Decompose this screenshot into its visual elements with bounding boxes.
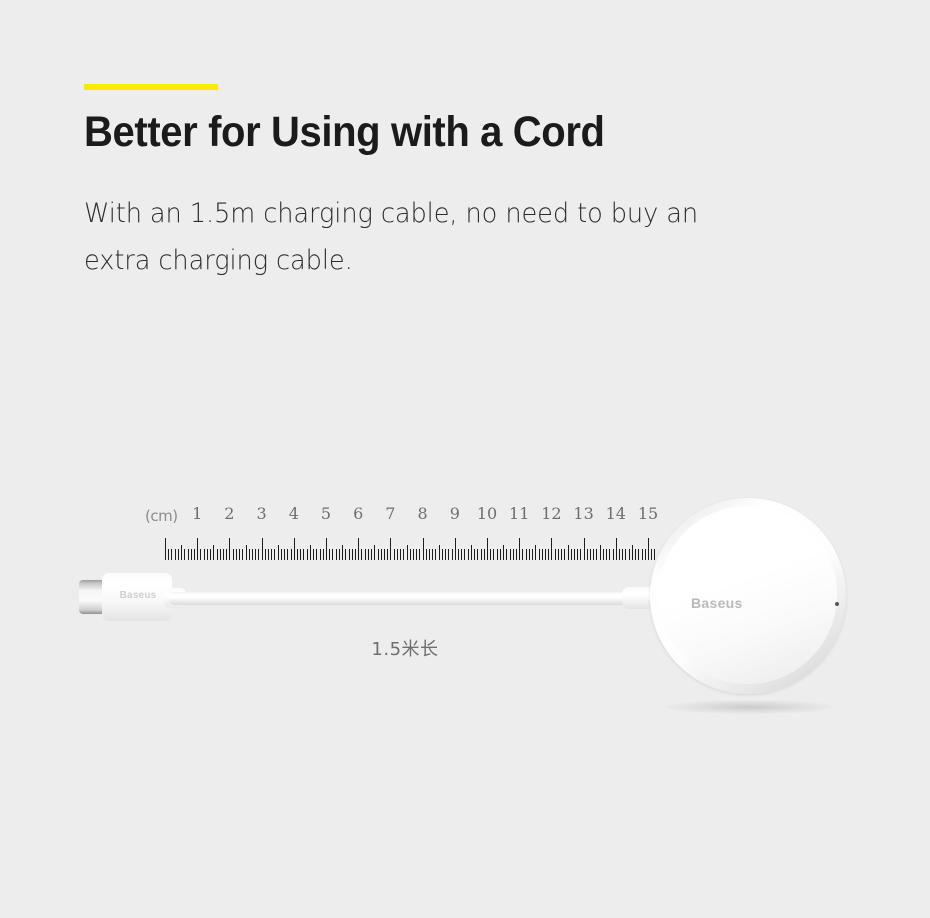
ruler-tick [320,549,321,560]
ruler-tick [625,549,626,560]
ruler-tick [352,549,353,560]
ruler-tick-marks [165,536,655,560]
subcopy-line-2: extra charging cable. [84,237,835,284]
ruler-tick [258,549,259,560]
ruler-tick [184,549,185,560]
ruler-tick [416,549,417,560]
ruler-label-10: 10 [477,506,497,522]
ruler-tick [564,549,565,560]
ruler-tick [587,549,588,560]
ruler-tick [207,549,208,560]
ruler-tick [242,549,243,560]
ruler-tick [204,549,205,560]
ruler-tick [303,549,304,560]
ruler-tick [394,549,395,560]
charging-cable [168,592,638,605]
ruler-tick [332,549,333,560]
ruler-tick [439,545,440,560]
ruler-tick [551,538,552,560]
ruler-tick [542,549,543,560]
ruler-tick [274,549,275,560]
ruler-tick [226,549,227,560]
ruler-label-11: 11 [509,506,529,522]
ruler-label-12: 12 [541,506,561,522]
ruler-tick [168,549,169,560]
ruler-tick [526,549,527,560]
ruler-label-6: 6 [353,506,363,522]
ruler-tick [413,549,414,560]
ruler-tick [268,549,269,560]
ruler-tick [329,549,330,560]
ruler-tick [571,549,572,560]
ruler-tick [397,549,398,560]
ruler-tick [429,549,430,560]
ruler-tick [297,549,298,560]
ruler-tick [365,549,366,560]
ruler-tick [368,549,369,560]
ruler-tick [490,549,491,560]
ruler-tick [622,549,623,560]
ruler-tick [503,545,504,560]
ruler-label-14: 14 [606,506,626,522]
ruler-tick [477,549,478,560]
ruler-tick [294,538,295,560]
ruler-tick [178,549,179,560]
ruler-tick [561,549,562,560]
ruler-tick [619,549,620,560]
ruler-tick [506,549,507,560]
ruler-tick [381,549,382,560]
ruler-tick [545,549,546,560]
ruler-tick [568,545,569,560]
ruler-tick [510,549,511,560]
ruler-tick [175,549,176,560]
ruler-tick [522,549,523,560]
ruler-tick [284,549,285,560]
ruler-tick [287,549,288,560]
ruler-tick [342,545,343,560]
ruler-tick [191,549,192,560]
ruler-tick [384,549,385,560]
ruler-label-8: 8 [418,506,428,522]
ruler-tick [255,549,256,560]
ruler-tick [629,549,630,560]
ruler-tick [584,538,585,560]
ruler-tick [213,545,214,560]
ruler-tick [271,549,272,560]
ruler-tick [513,549,514,560]
wireless-charger: Baseus [645,496,855,716]
ruler-tick [326,538,327,560]
ruler-tick [603,549,604,560]
charger-led-indicator-icon [835,602,839,606]
ruler-tick [532,549,533,560]
ruler-tick [448,549,449,560]
ruler-tick [442,549,443,560]
ruler-tick [387,549,388,560]
ruler-tick [474,549,475,560]
cable-length-caption: 1.5米长 [310,635,500,661]
product-feature-page: Better for Using with a Cord With an 1.5… [0,0,930,918]
ruler-tick [194,549,195,560]
plug-brand-label: Baseus [112,590,164,601]
ruler-tick [210,549,211,560]
ruler-tick [500,549,501,560]
ruler-tick [613,549,614,560]
ruler-tick [539,549,540,560]
ruler-tick [635,549,636,560]
ruler-tick [419,549,420,560]
ruler-tick [590,549,591,560]
ruler-tick [165,538,166,560]
ruler-tick [310,545,311,560]
ruler-tick [323,549,324,560]
ruler-tick [349,549,350,560]
ruler-tick [487,538,488,560]
ruler-tick [574,549,575,560]
ruler-tick [529,549,530,560]
ruler-tick [484,549,485,560]
ruler-tick [220,549,221,560]
ruler-tick [410,549,411,560]
ruler-label-5: 5 [321,506,331,522]
ruler-tick [223,549,224,560]
ruler-tick [265,549,266,560]
ruler-tick [181,545,182,560]
ruler-tick [188,549,189,560]
ruler-tick [516,549,517,560]
ruler-tick [471,545,472,560]
ruler-tick [423,538,424,560]
ruler-tick [390,538,391,560]
ruler-tick [519,538,520,560]
ruler-tick [307,549,308,560]
ruler-tick [493,549,494,560]
ruler-label-9: 9 [450,506,460,522]
ruler-tick [435,549,436,560]
ruler-tick [371,549,372,560]
page-subcopy: With an 1.5m charging cable, no need to … [84,190,835,285]
ruler-tick [609,549,610,560]
ruler-tick [555,549,556,560]
ruler-tick [281,549,282,560]
ruler-tick [252,549,253,560]
charger-top-surface: Baseus [659,506,837,684]
ruler-tick [535,545,536,560]
ruler-tick [197,538,198,560]
ruler-tick [426,549,427,560]
ruler-tick [316,549,317,560]
charger-gloss-highlight [685,516,821,574]
ruler-tick [558,549,559,560]
charger-brand-label: Baseus [691,595,743,611]
yellow-accent-bar [84,84,218,90]
ruler-label-3: 3 [257,506,267,522]
ruler-tick [300,549,301,560]
ruler-tick [596,549,597,560]
ruler-tick [336,549,337,560]
ruler-tick [229,538,230,560]
ruler-tick [638,549,639,560]
ruler-tick [400,549,401,560]
ruler-tick [239,549,240,560]
ruler-tick [403,549,404,560]
ruler-tick [374,545,375,560]
ruler-tick [313,549,314,560]
ruler-tick [445,549,446,560]
charger-drop-shadow [667,700,833,714]
ruler-tick [606,549,607,560]
ruler-label-2: 2 [224,506,234,522]
charger-body: Baseus [650,498,846,694]
measurement-ruler: (cm) 123456789101112131415 [145,502,655,597]
ruler-tick [339,549,340,560]
ruler-tick [616,538,617,560]
ruler-tick [481,549,482,560]
ruler-tick [452,549,453,560]
subcopy-line-1: With an 1.5m charging cable, no need to … [84,190,835,237]
ruler-tick [378,549,379,560]
ruler-tick [464,549,465,560]
ruler-tick [358,538,359,560]
page-title: Better for Using with a Cord [84,108,828,156]
ruler-tick [249,549,250,560]
ruler-tick [642,549,643,560]
ruler-tick [577,549,578,560]
ruler-tick [580,549,581,560]
ruler-tick [497,549,498,560]
ruler-tick [233,549,234,560]
ruler-tick [461,549,462,560]
ruler-tick [246,545,247,560]
ruler-tick [291,549,292,560]
product-scene: (cm) 123456789101112131415 Baseus 1.5米长 … [0,470,930,740]
ruler-tick [262,538,263,560]
ruler-tick [217,549,218,560]
ruler-label-7: 7 [385,506,395,522]
ruler-tick [345,549,346,560]
ruler-tick [458,549,459,560]
ruler-tick [361,549,362,560]
ruler-tick [171,549,172,560]
ruler-tick [600,545,601,560]
ruler-tick [407,545,408,560]
ruler-tick [200,549,201,560]
ruler-number-labels: 123456789101112131415 [165,506,655,528]
ruler-tick [593,549,594,560]
ruler-label-13: 13 [573,506,593,522]
ruler-label-1: 1 [192,506,202,522]
ruler-tick [355,549,356,560]
ruler-tick [632,545,633,560]
ruler-tick [468,549,469,560]
ruler-tick [455,538,456,560]
ruler-tick [236,549,237,560]
ruler-tick [278,545,279,560]
ruler-tick [432,549,433,560]
ruler-tick [548,549,549,560]
ruler-label-4: 4 [289,506,299,522]
